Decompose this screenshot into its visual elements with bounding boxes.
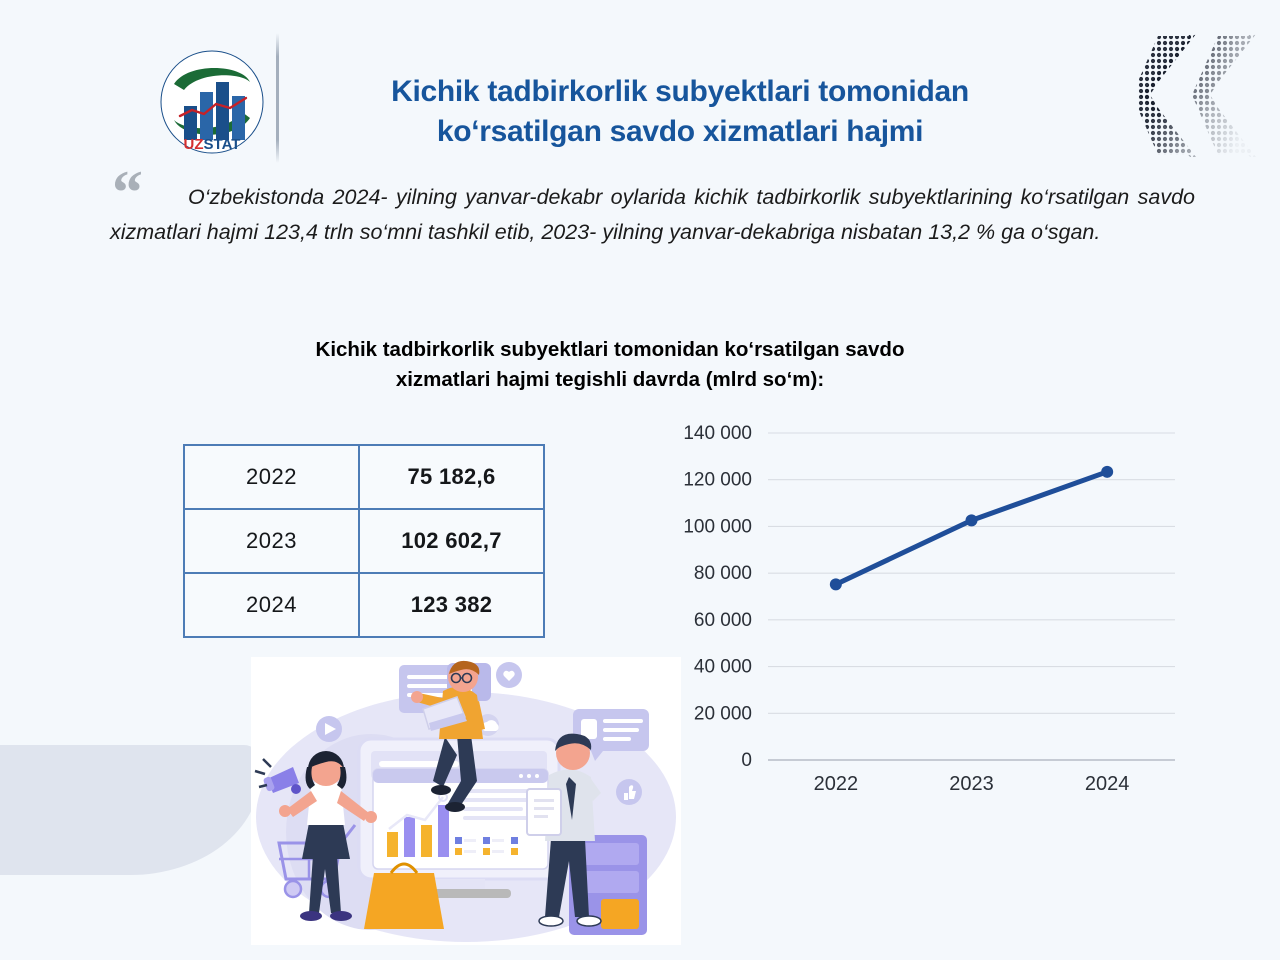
chart-heading: Kichik tadbirkorlik subyektlari tomonida… <box>140 335 1080 394</box>
table-cell-year: 2023 <box>184 509 359 573</box>
chart-data-point <box>830 578 842 590</box>
quote-body-text: O‘zbekistonda 2024- yilning yanvar-dekab… <box>110 180 1195 250</box>
page-title-line-2: ko‘rsatilgan savdo xizmatlari hajmi <box>300 112 1060 152</box>
chart-x-tick-label: 2022 <box>814 773 859 795</box>
header: UZSTAT Kichik tadbirkorlik subyektlari t… <box>0 0 1280 170</box>
uzstat-logo: UZSTAT <box>158 48 266 156</box>
table-row: 2023 102 602,7 <box>184 509 544 573</box>
illustration-heart-bubble <box>496 662 522 688</box>
data-table: 2022 75 182,6 2023 102 602,7 2024 123 38… <box>183 444 545 638</box>
chart-x-tick-label: 2024 <box>1085 773 1130 795</box>
table-row: 2024 123 382 <box>184 573 544 637</box>
chart-heading-line-2: xizmatlari hajmi tegishli davrda (mlrd s… <box>140 365 1080 395</box>
chart-y-tick-label: 60 000 <box>694 610 752 631</box>
table-cell-value: 123 382 <box>359 573 544 637</box>
table-row: 2022 75 182,6 <box>184 445 544 509</box>
chart-y-tick-label: 40 000 <box>694 657 752 678</box>
background-blob-left <box>0 745 260 875</box>
table-cell-year: 2024 <box>184 573 359 637</box>
chart-y-tick-label: 80 000 <box>694 563 752 584</box>
table-cell-value: 102 602,7 <box>359 509 544 573</box>
chart-data-point <box>1101 466 1113 478</box>
chart-y-tick-label: 140 000 <box>683 423 752 444</box>
chart-heading-line-1: Kichik tadbirkorlik subyektlari tomonida… <box>140 335 1080 365</box>
table-cell-value: 75 182,6 <box>359 445 544 509</box>
chart-y-tick-label: 100 000 <box>683 516 752 537</box>
page-title-line-1: Kichik tadbirkorlik subyektlari tomonida… <box>300 72 1060 112</box>
logo-text-uz: UZ <box>184 136 204 153</box>
chart-series-line <box>836 472 1107 585</box>
logo-text-stat: STAT <box>204 136 241 153</box>
chart-y-tick-label: 120 000 <box>683 470 752 491</box>
illustration-shopping-bag <box>364 864 444 929</box>
chart-data-point <box>966 514 978 526</box>
chart-y-tick-label: 20 000 <box>694 703 752 724</box>
chart-x-tick-label: 2023 <box>949 773 994 795</box>
ecommerce-illustration <box>251 657 681 945</box>
header-divider <box>276 33 279 163</box>
line-chart: 020 00040 00060 00080 000100 000120 0001… <box>660 415 1190 800</box>
chart-y-tick-label: 0 <box>741 750 752 771</box>
page-title: Kichik tadbirkorlik subyektlari tomonida… <box>300 72 1060 152</box>
illustration-play-bubble <box>316 716 342 742</box>
illustration-thumb-bubble <box>616 779 642 805</box>
svg-text:UZSTAT: UZSTAT <box>184 136 241 153</box>
table-cell-year: 2022 <box>184 445 359 509</box>
